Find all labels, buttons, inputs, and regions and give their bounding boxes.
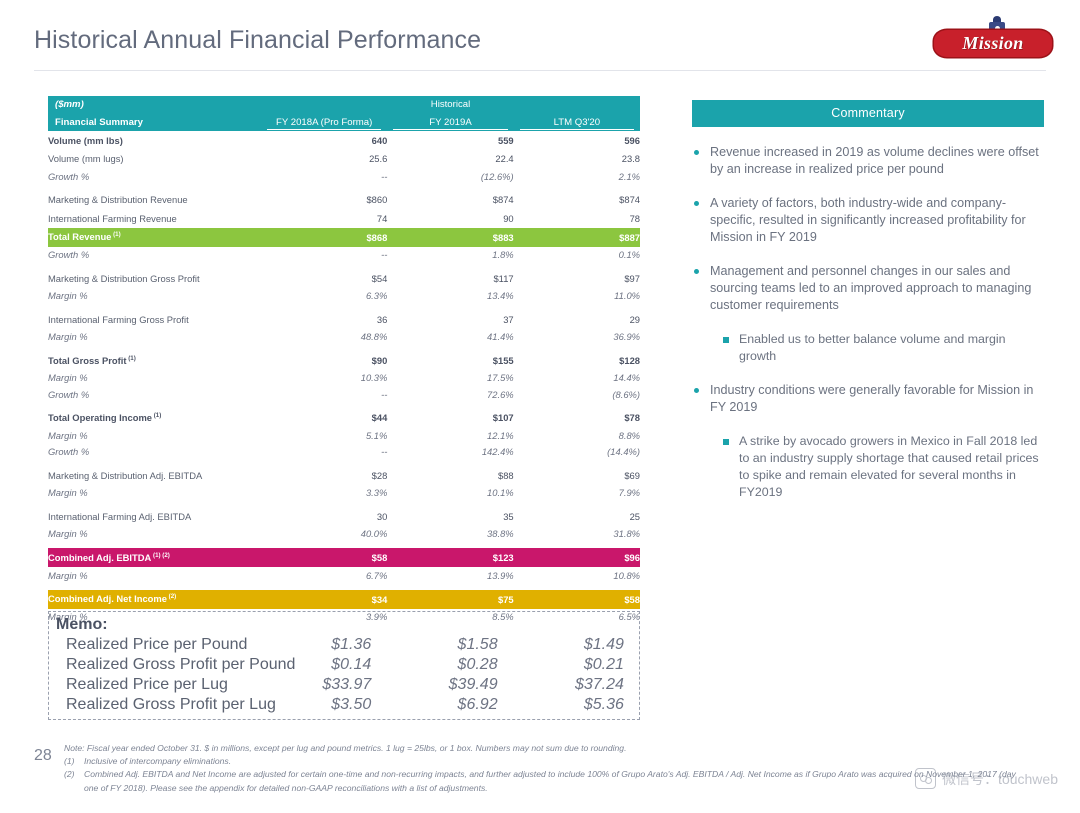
row-value: $90 (261, 351, 387, 370)
table-row: Volume (mm lugs)25.622.423.8 (48, 150, 640, 169)
row-label: Total Gross Profit (1) (48, 351, 261, 370)
row-value: 142.4% (387, 444, 513, 461)
row-value: 36 (261, 310, 387, 329)
memo-row-value: $1.36 (262, 635, 388, 655)
row-value: $874 (514, 191, 640, 210)
mission-wordmark: Mission (934, 30, 1052, 57)
table-row: Margin %5.1%12.1%8.8% (48, 427, 640, 444)
row-value: -- (261, 168, 387, 185)
page-number: 28 (34, 747, 52, 765)
table-row: Margin %48.8%41.4%36.9% (48, 329, 640, 346)
row-value: 23.8 (514, 150, 640, 169)
footnote-marker: (1) (152, 412, 161, 419)
table-row: Total Gross Profit (1)$90$155$128 (48, 351, 640, 370)
row-value: 0.1% (514, 247, 640, 264)
table-group-header: Historical (261, 96, 640, 113)
bullet-dot-icon (694, 388, 699, 393)
footnote-mark: (2) (64, 768, 84, 794)
table-row: Growth %--(12.6%)2.1% (48, 168, 640, 185)
footnote-marker: (2) (167, 593, 176, 600)
memo-row-label: Realized Price per Pound (49, 635, 262, 655)
row-value: 11.0% (514, 288, 640, 305)
row-value: 10.3% (261, 370, 387, 387)
wechat-icon (915, 768, 936, 789)
row-value: 12.1% (387, 427, 513, 444)
row-value: $78 (514, 409, 640, 428)
table-row: Volume (mm lbs)640559596 (48, 131, 640, 150)
row-value: $34 (261, 590, 387, 609)
row-value: $155 (387, 351, 513, 370)
row-value: -- (261, 386, 387, 403)
memo-row-value: $3.50 (262, 695, 388, 715)
commentary-item-text: Industry conditions were generally favor… (710, 383, 1033, 414)
row-value: $54 (261, 269, 387, 288)
commentary-list: Revenue increased in 2019 as volume decl… (692, 144, 1044, 501)
row-label: Margin % (48, 526, 261, 543)
memo-title: Memo: (49, 615, 262, 635)
row-value: 35 (387, 507, 513, 526)
footnote-marker: (1) (111, 231, 120, 238)
row-value: $117 (387, 269, 513, 288)
row-label: Volume (mm lbs) (48, 131, 261, 150)
commentary-item-text: A strike by avocado growers in Mexico in… (739, 434, 1039, 499)
row-value: $887 (514, 228, 640, 247)
row-label: Marketing & Distribution Revenue (48, 191, 261, 210)
column-header-ltm-q3-20: LTM Q3'20 (514, 113, 640, 131)
footnote-note: Note: Fiscal year ended October 31. $ in… (64, 742, 1024, 755)
memo-row-value: $33.97 (262, 675, 388, 695)
row-value: 640 (261, 131, 387, 150)
table-row: Margin %6.3%13.4%11.0% (48, 288, 640, 305)
commentary-item: A strike by avocado growers in Mexico in… (722, 433, 1044, 501)
row-value: $123 (387, 548, 513, 567)
memo-row-value: $5.36 (515, 695, 641, 715)
row-label: Combined Adj. Net Income (2) (48, 590, 261, 609)
table-row: Margin %3.3%10.1%7.9% (48, 485, 640, 502)
row-value: 10.8% (514, 567, 640, 584)
row-label: Growth % (48, 444, 261, 461)
memo-row-value: $37.24 (515, 675, 641, 695)
bullet-dot-icon (694, 269, 699, 274)
row-label: Growth % (48, 386, 261, 403)
row-label: Total Revenue (1) (48, 228, 261, 247)
table-row: Combined Adj. EBITDA (1) (2)$58$123$96 (48, 548, 640, 567)
memo-row: Realized Gross Profit per Pound$0.14$0.2… (49, 655, 641, 675)
slide-header: Historical Annual Financial Performance … (0, 0, 1080, 78)
row-value: 7.9% (514, 485, 640, 502)
memo-row-label: Realized Gross Profit per Pound (49, 655, 262, 675)
row-label: Volume (mm lugs) (48, 150, 261, 169)
footnote-text: Inclusive of intercompany eliminations. (84, 755, 1024, 768)
table-row: Marketing & Distribution Gross Profit$54… (48, 269, 640, 288)
row-label: Margin % (48, 567, 261, 584)
footnote-marker: (1) (2) (151, 552, 170, 559)
row-label: Marketing & Distribution Adj. EBITDA (48, 466, 261, 485)
memo-title-row: Memo: (49, 615, 641, 635)
commentary-item: Enabled us to better balance volume and … (722, 331, 1044, 365)
row-value: $860 (261, 191, 387, 210)
memo-row: Realized Price per Lug$33.97$39.49$37.24 (49, 675, 641, 695)
row-value: 5.1% (261, 427, 387, 444)
row-value: $868 (261, 228, 387, 247)
mission-wordmark-text: Mission (934, 30, 1052, 57)
row-value: 29 (514, 310, 640, 329)
row-value: 14.4% (514, 370, 640, 387)
row-value: 30 (261, 507, 387, 526)
row-value: 13.4% (387, 288, 513, 305)
footnote-text: Combined Adj. EBITDA and Net Income are … (84, 768, 1024, 794)
row-value: 41.4% (387, 329, 513, 346)
row-value: $128 (514, 351, 640, 370)
table-row: Margin %10.3%17.5%14.4% (48, 370, 640, 387)
footnote-item: (2)Combined Adj. EBITDA and Net Income a… (64, 768, 1024, 794)
row-label: International Farming Gross Profit (48, 310, 261, 329)
title-divider (34, 70, 1046, 71)
row-value: 3.3% (261, 485, 387, 502)
row-value: 17.5% (387, 370, 513, 387)
row-label: Margin % (48, 288, 261, 305)
table-summary-label: Financial Summary (48, 113, 261, 131)
memo-row-value: $0.28 (388, 655, 514, 675)
row-value: 74 (261, 209, 387, 228)
commentary-item: Revenue increased in 2019 as volume decl… (692, 144, 1044, 178)
row-value: 2.1% (514, 168, 640, 185)
row-value: (14.4%) (514, 444, 640, 461)
row-label: Growth % (48, 168, 261, 185)
row-value: 559 (387, 131, 513, 150)
row-value: $58 (261, 548, 387, 567)
row-label: International Farming Revenue (48, 209, 261, 228)
table-row: Growth %--142.4%(14.4%) (48, 444, 640, 461)
memo-row-value: $0.21 (515, 655, 641, 675)
bullet-dot-icon (694, 150, 699, 155)
row-value: (8.6%) (514, 386, 640, 403)
table-row: Margin %6.7%13.9%10.8% (48, 567, 640, 584)
row-value: -- (261, 247, 387, 264)
row-value: 6.7% (261, 567, 387, 584)
row-label: Marketing & Distribution Gross Profit (48, 269, 261, 288)
memo-row-label: Realized Price per Lug (49, 675, 262, 695)
page-title: Historical Annual Financial Performance (34, 26, 481, 55)
commentary-header: Commentary (692, 100, 1044, 127)
table-row: Combined Adj. Net Income (2)$34$75$58 (48, 590, 640, 609)
column-header-fy2018a: FY 2018A (Pro Forma) (261, 113, 387, 131)
table-row: Marketing & Distribution Revenue$860$874… (48, 191, 640, 210)
memo-row: Realized Gross Profit per Lug$3.50$6.92$… (49, 695, 641, 715)
table-row: Growth %--72.6%(8.6%) (48, 386, 640, 403)
commentary-item-text: Enabled us to better balance volume and … (739, 332, 1006, 363)
row-value: 38.8% (387, 526, 513, 543)
row-value: $44 (261, 409, 387, 428)
row-value: 1.8% (387, 247, 513, 264)
commentary-item-text: Management and personnel changes in our … (710, 264, 1031, 312)
memo-row-value: $1.49 (515, 635, 641, 655)
footnote-note-text: Note: Fiscal year ended October 31. $ in… (64, 742, 1024, 755)
row-value: $69 (514, 466, 640, 485)
row-value: $883 (387, 228, 513, 247)
watermark-text: 微信号：touchweb (942, 769, 1058, 789)
mission-logo: Mission (934, 16, 1052, 64)
row-label: Total Operating Income (1) (48, 409, 261, 428)
row-label: International Farming Adj. EBITDA (48, 507, 261, 526)
row-value: $75 (387, 590, 513, 609)
table-row: Margin %40.0%38.8%31.8% (48, 526, 640, 543)
table-row: Total Operating Income (1)$44$107$78 (48, 409, 640, 428)
commentary-item-text: Revenue increased in 2019 as volume decl… (710, 145, 1039, 176)
bullet-square-icon (723, 337, 729, 343)
table-row: International Farming Revenue749078 (48, 209, 640, 228)
row-label: Combined Adj. EBITDA (1) (2) (48, 548, 261, 567)
commentary-item: A variety of factors, both industry-wide… (692, 195, 1044, 246)
row-label: Margin % (48, 485, 261, 502)
table-row: International Farming Gross Profit363729 (48, 310, 640, 329)
bullet-dot-icon (694, 201, 699, 206)
table-row: Total Revenue (1)$868$883$887 (48, 228, 640, 247)
row-label: Growth % (48, 247, 261, 264)
table-header-band-2: Financial Summary FY 2018A (Pro Forma) F… (48, 113, 640, 131)
column-header-fy2019a: FY 2019A (387, 113, 513, 131)
row-label: Margin % (48, 370, 261, 387)
row-value: 25.6 (261, 150, 387, 169)
row-value: 36.9% (514, 329, 640, 346)
table-row: Marketing & Distribution Adj. EBITDA$28$… (48, 466, 640, 485)
memo-row-value: $1.58 (388, 635, 514, 655)
commentary-item: Industry conditions were generally favor… (692, 382, 1044, 416)
table-header-band-1: ($mm) Historical (48, 96, 640, 113)
commentary-item-text: A variety of factors, both industry-wide… (710, 196, 1026, 244)
bullet-square-icon (723, 439, 729, 445)
footnote-lines: Note: Fiscal year ended October 31. $ in… (64, 742, 1024, 795)
row-value: 10.1% (387, 485, 513, 502)
memo-row-value: $39.49 (388, 675, 514, 695)
row-value: $97 (514, 269, 640, 288)
row-label: Margin % (48, 427, 261, 444)
row-value: 6.3% (261, 288, 387, 305)
row-value: 72.6% (387, 386, 513, 403)
memo-box: Memo: Realized Price per Pound$1.36$1.58… (48, 611, 640, 720)
commentary-panel: Commentary Revenue increased in 2019 as … (692, 100, 1044, 501)
row-value: $28 (261, 466, 387, 485)
footnote-marker: (1) (126, 355, 135, 362)
row-value: 40.0% (261, 526, 387, 543)
row-value: 596 (514, 131, 640, 150)
row-value: (12.6%) (387, 168, 513, 185)
table-row: Growth %--1.8%0.1% (48, 247, 640, 264)
row-value: 78 (514, 209, 640, 228)
row-value: 25 (514, 507, 640, 526)
row-value: $88 (387, 466, 513, 485)
row-value: 31.8% (514, 526, 640, 543)
row-value: 22.4 (387, 150, 513, 169)
row-value: -- (261, 444, 387, 461)
row-value: $107 (387, 409, 513, 428)
table-unit-label: ($mm) (48, 96, 261, 113)
row-value: $58 (514, 590, 640, 609)
row-value: 48.8% (261, 329, 387, 346)
memo-row-label: Realized Gross Profit per Lug (49, 695, 262, 715)
memo-row: Realized Price per Pound$1.36$1.58$1.49 (49, 635, 641, 655)
watermark: 微信号：touchweb (915, 768, 1058, 789)
table-row: International Farming Adj. EBITDA303525 (48, 507, 640, 526)
row-value: 37 (387, 310, 513, 329)
footnote-mark: (1) (64, 755, 84, 768)
row-value: 13.9% (387, 567, 513, 584)
row-label: Margin % (48, 329, 261, 346)
commentary-item: Management and personnel changes in our … (692, 263, 1044, 314)
row-value: $874 (387, 191, 513, 210)
memo-row-value: $6.92 (388, 695, 514, 715)
footnote-item: (1)Inclusive of intercompany elimination… (64, 755, 1024, 768)
row-value: $96 (514, 548, 640, 567)
row-value: 8.8% (514, 427, 640, 444)
row-value: 90 (387, 209, 513, 228)
financial-summary-table: ($mm) Historical Financial Summary FY 20… (48, 96, 640, 625)
